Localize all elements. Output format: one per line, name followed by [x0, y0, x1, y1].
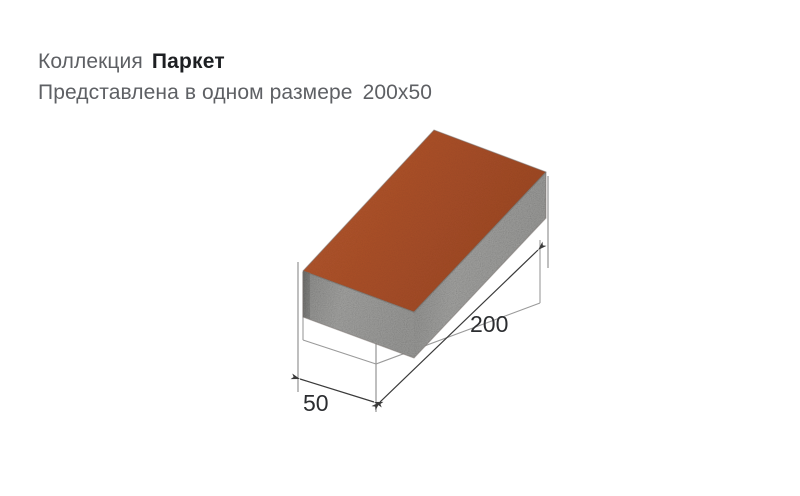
- paver-block-illustration: 200 50: [0, 0, 800, 496]
- dimension-width: 50: [300, 379, 374, 416]
- dimension-label-200: 200: [470, 311, 508, 337]
- paver-block-svg: 200 50: [0, 0, 800, 496]
- paver-block-body: [303, 130, 546, 358]
- product-illustration-page: КоллекцияПаркет Представлена в одном раз…: [0, 0, 800, 496]
- bottom-edge-left: [303, 340, 376, 364]
- dimension-label-50: 50: [303, 390, 329, 416]
- block-left-end-face: [303, 271, 310, 319]
